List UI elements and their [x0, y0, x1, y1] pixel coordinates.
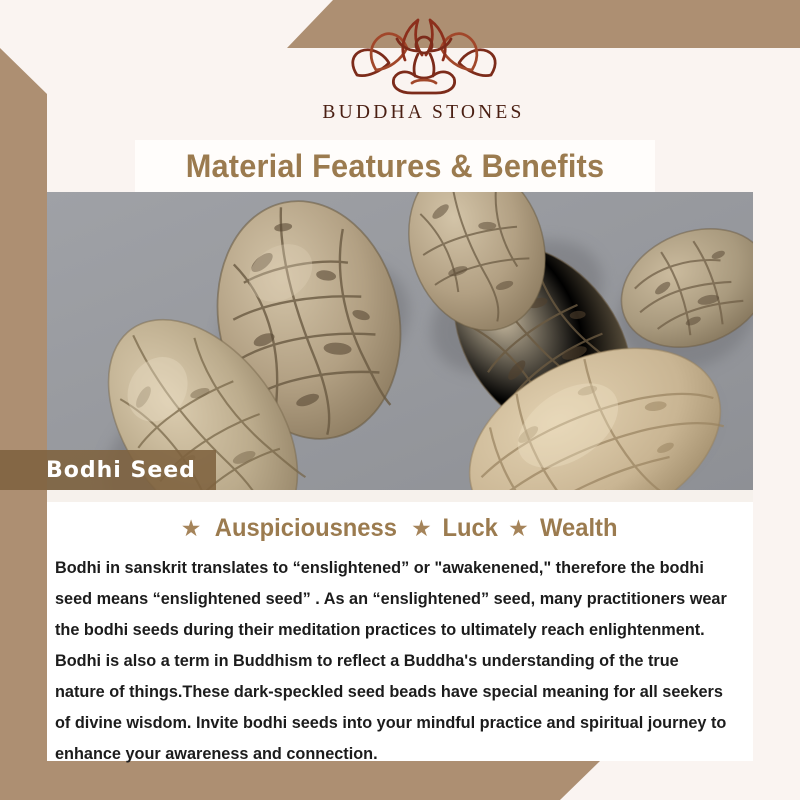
star-icon: ★ [411, 517, 432, 540]
photo-caption-text: Bodhi Seed [0, 458, 196, 483]
poster-header: BUDDHA STONES [47, 48, 800, 140]
brand-logo-block: BUDDHA STONES [47, 14, 800, 124]
brand-name: BUDDHA STONES [322, 102, 524, 124]
benefits-row: ★ Auspiciousness ★ Luck ★ Wealth [47, 514, 753, 543]
photo-caption-badge: Bodhi Seed [0, 450, 216, 490]
benefit-item-luck: Luck [442, 514, 497, 543]
photo-illustration [47, 192, 753, 490]
lotus-meditation-icon [339, 14, 509, 98]
star-icon: ★ [181, 517, 202, 540]
benefit-item-auspiciousness: Auspiciousness [215, 514, 397, 543]
description-paragraph: Bodhi in sanskrit translates to “ensligh… [55, 552, 731, 769]
content-section: ★ Auspiciousness ★ Luck ★ Wealth Bodhi i… [47, 490, 753, 761]
star-icon: ★ [508, 517, 529, 540]
bodhi-seed-photo [47, 192, 753, 490]
title-banner: Material Features & Benefits [135, 140, 655, 192]
poster-root: BUDDHA STONES Material Features & Benefi… [0, 0, 800, 800]
page-title: Material Features & Benefits [186, 148, 605, 185]
benefit-item-wealth: Wealth [540, 514, 617, 543]
decorative-band-left [0, 48, 47, 761]
content-divider [47, 490, 753, 502]
